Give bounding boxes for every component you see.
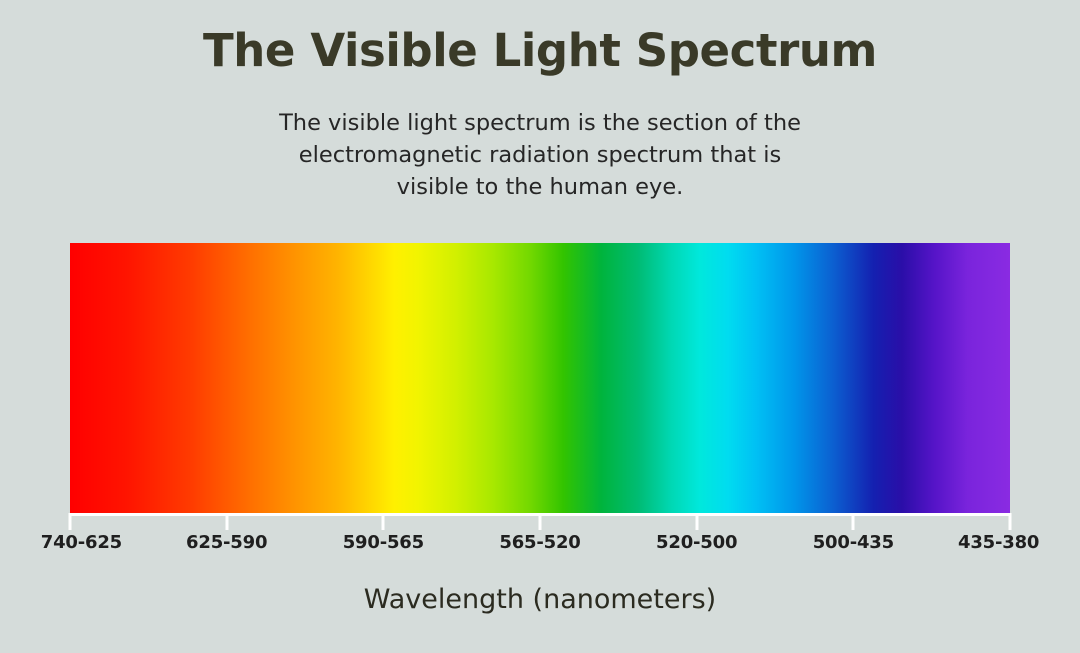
subtitle-line-1: The visible light spectrum is the sectio… (230, 108, 850, 140)
axis-tick-mark (1009, 513, 1012, 530)
chart-subtitle: The visible light spectrum is the sectio… (230, 108, 850, 204)
x-axis-tick-labels: 740-625 625-590 590-565 565-520 520-500 … (70, 532, 1010, 560)
x-axis (70, 513, 1010, 531)
plot-area (70, 243, 1010, 513)
subtitle-line-3: visible to the human eye. (230, 172, 850, 204)
axis-tick-label: 565-520 (499, 532, 580, 553)
axis-tick-label: 590-565 (343, 532, 424, 553)
x-axis-title: Wavelength (nanometers) (0, 584, 1080, 615)
axis-tick-label: 435-380 (958, 532, 1039, 553)
subtitle-line-2: electromagnetic radiation spectrum that … (230, 140, 850, 172)
axis-tick-mark (225, 513, 228, 530)
axis-tick-mark (695, 513, 698, 530)
page-title: The Visible Light Spectrum (0, 27, 1080, 74)
axis-tick-label: 500-435 (813, 532, 894, 553)
axis-tick-mark (69, 513, 72, 530)
axis-tick-label: 740-625 (41, 532, 122, 553)
axis-tick-mark (852, 513, 855, 530)
visible-light-spectrum-figure: The Visible Light Spectrum The visible l… (0, 0, 1080, 653)
spectrum-gradient-bar (70, 243, 1010, 513)
axis-tick-label: 625-590 (186, 532, 267, 553)
axis-tick-label: 520-500 (656, 532, 737, 553)
axis-tick-mark (382, 513, 385, 530)
axis-tick-mark (539, 513, 542, 530)
